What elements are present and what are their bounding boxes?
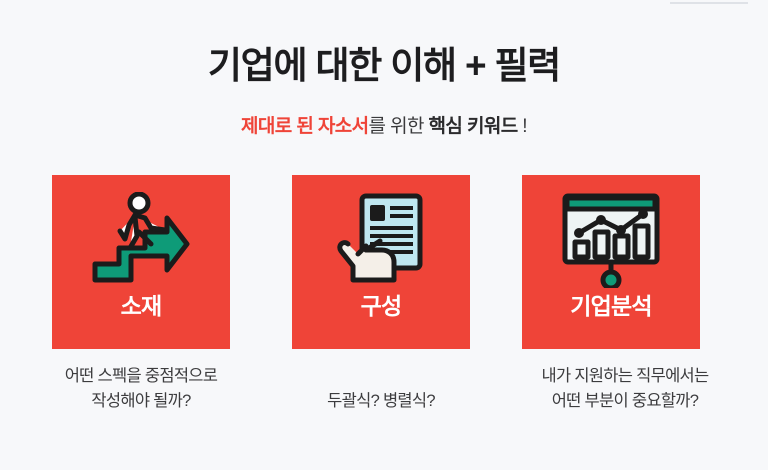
card-group: 소재 구성 xyxy=(0,175,768,349)
card-label: 구성 xyxy=(361,291,402,321)
caption-sojae: 어떤 스펙을 중점적으로 작성해야 될까? xyxy=(16,364,266,414)
presentation-chart-board-icon xyxy=(559,191,663,289)
caption-line: 어떤 스펙을 중점적으로 xyxy=(16,364,266,389)
hand-holding-resume-icon xyxy=(332,191,430,289)
caption-group: 어떤 스펙을 중점적으로 작성해야 될까? 두괄식? 병렬식? 내가 지원하는 … xyxy=(0,362,768,432)
caption-line: 내가 지원하는 직무에서는 xyxy=(494,364,756,389)
card-guseong[interactable]: 구성 xyxy=(292,175,470,349)
caption-line: 어떤 부분이 중요할까? xyxy=(494,389,756,414)
subtitle-mark: ! xyxy=(518,116,527,137)
top-divider-line xyxy=(670,2,748,4)
page-title: 기업에 대한 이해 + 필력 xyxy=(0,44,768,88)
caption-line: 작성해야 될까? xyxy=(16,389,266,414)
caption-guseong: 두괄식? 병렬식? xyxy=(278,389,484,414)
card-gieopbunseok[interactable]: 기업분석 xyxy=(522,175,700,349)
slide-root: 기업에 대한 이해 + 필력 제대로 된 자소서를 위한 핵심 키워드 ! xyxy=(0,0,768,470)
caption-line: 두괄식? 병렬식? xyxy=(278,389,484,414)
subtitle-middle: 를 위한 xyxy=(369,116,429,137)
card-label: 소재 xyxy=(121,291,162,321)
subtitle-highlight: 제대로 된 자소서 xyxy=(241,116,369,137)
card-label: 기업분석 xyxy=(570,291,651,321)
subtitle-strong: 핵심 키워드 xyxy=(429,116,518,137)
stairs-person-arrow-icon xyxy=(89,191,193,289)
page-subtitle: 제대로 된 자소서를 위한 핵심 키워드 ! xyxy=(0,114,768,140)
card-sojae[interactable]: 소재 xyxy=(52,175,230,349)
caption-gieopbunseok: 내가 지원하는 직무에서는 어떤 부분이 중요할까? xyxy=(494,364,756,414)
